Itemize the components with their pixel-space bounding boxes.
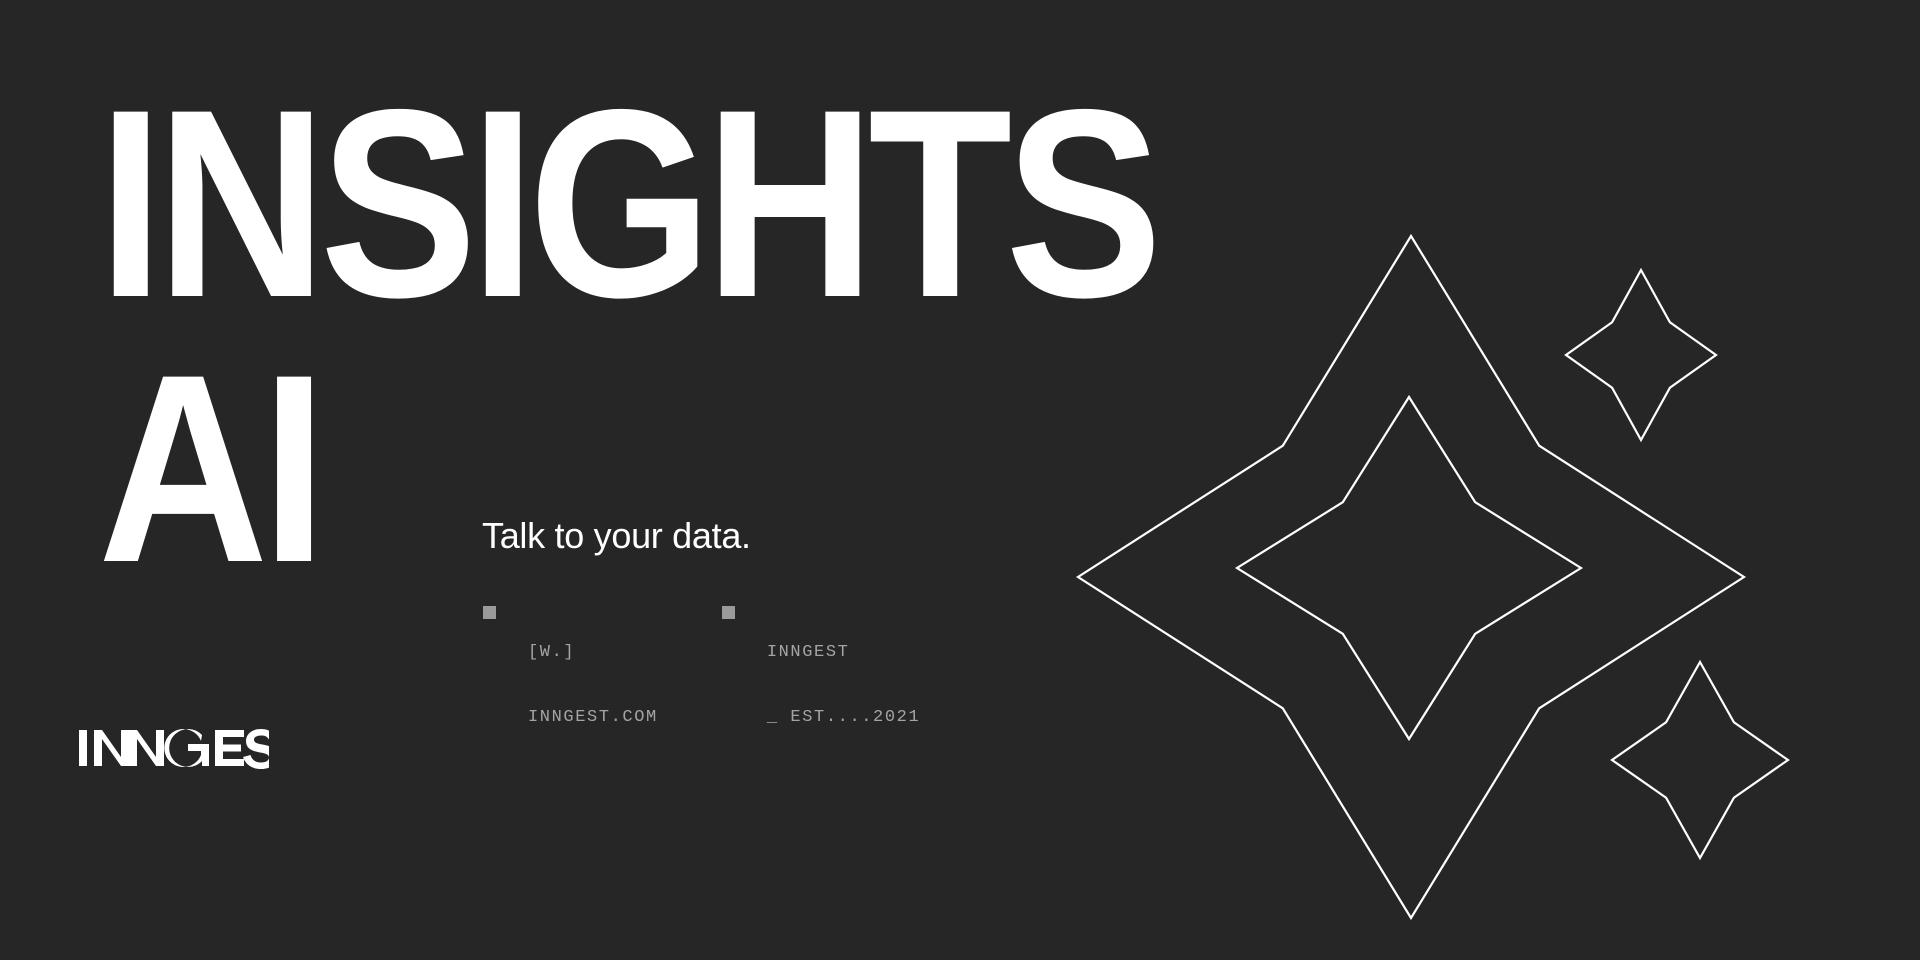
meta-item-established-text: INNGEST _ EST....2021	[767, 598, 920, 772]
meta-item-website-text: [W.] INNGEST.COM	[528, 598, 658, 772]
meta-item-established[interactable]: INNGEST _ EST....2021	[722, 598, 920, 772]
meta-item-website-line1: [W.]	[528, 642, 658, 664]
meta-item-established-line1: INNGEST	[767, 642, 920, 664]
inngest-logo[interactable]	[79, 726, 269, 775]
square-marker-icon	[483, 606, 496, 619]
small-sparkle-top-icon	[1566, 270, 1716, 440]
square-marker-icon	[722, 606, 735, 619]
meta-item-website-line2: INNGEST.COM	[528, 707, 658, 729]
meta-row: [W.] INNGEST.COM INNGEST _ EST....2021	[483, 598, 920, 772]
poster-canvas: INSIGHTS AI Talk to your data. [W.] INNG…	[0, 0, 1920, 960]
meta-item-established-line2: _ EST....2021	[767, 707, 920, 729]
tagline: Talk to your data.	[482, 515, 751, 557]
headline-line-ai: AI	[98, 337, 1155, 600]
headline-line-insights: INSIGHTS	[98, 72, 1155, 335]
small-sparkle-bottom-icon	[1612, 662, 1788, 858]
inngest-wordmark-icon	[79, 726, 269, 770]
meta-item-website[interactable]: [W.] INNGEST.COM	[483, 598, 658, 772]
